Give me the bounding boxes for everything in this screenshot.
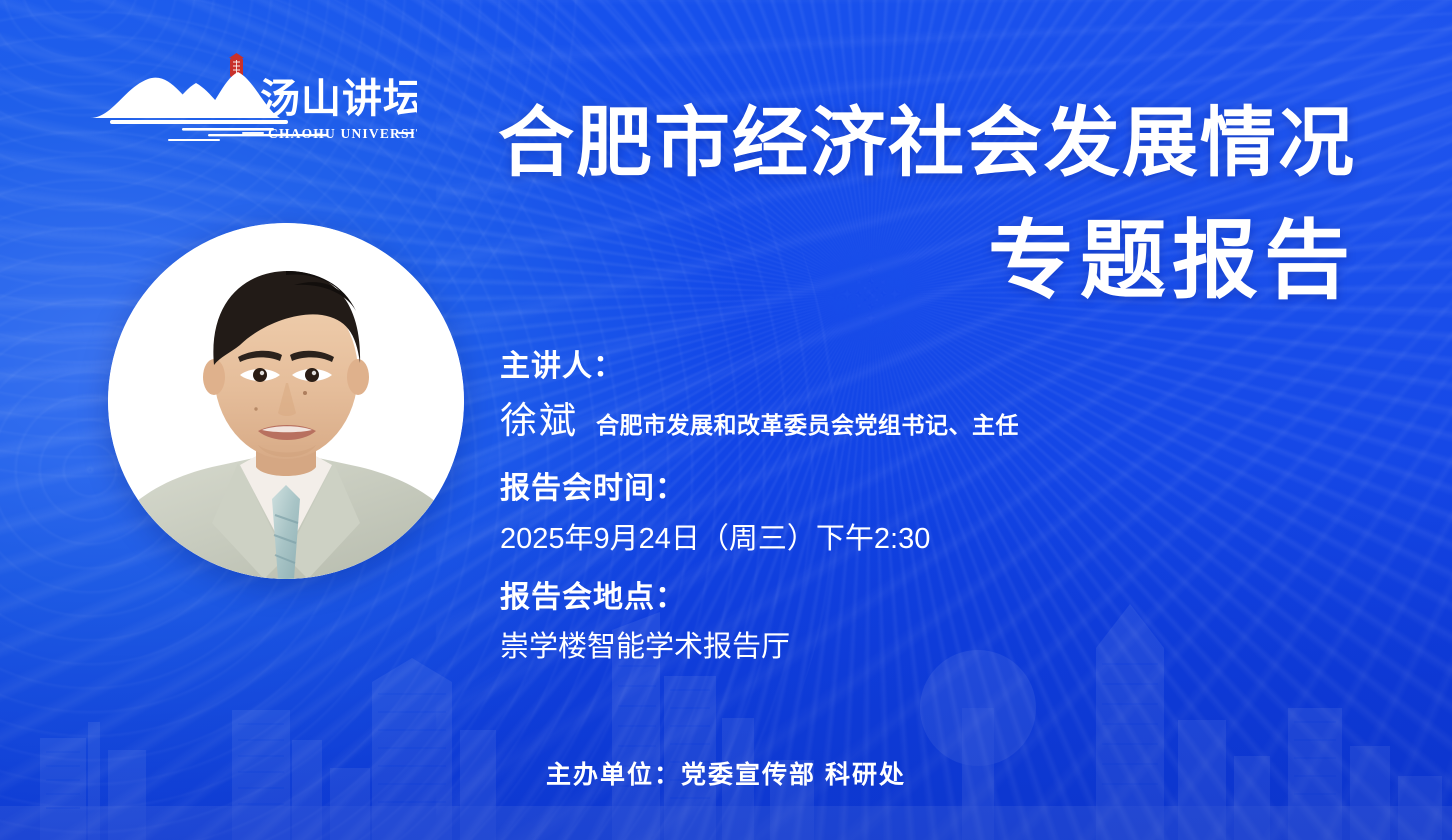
speaker-label: 主讲人： <box>500 348 1320 386</box>
logo-name-en: CHAOHU UNIVERSITY <box>268 126 417 141</box>
headline-line-1: 合肥市经济社会发展情况 <box>498 106 1356 182</box>
mountain-icon <box>90 72 280 118</box>
headline-line-2: 专题报告 <box>498 218 1356 304</box>
organizer-footer: 主办单位：党委宣传部 科研处 <box>0 755 1452 791</box>
place-label: 报告会地点： <box>500 579 1320 617</box>
speaker-row: 徐斌 合肥市发展和改革委员会党组书记、主任 <box>500 390 1320 444</box>
speaker-name: 徐斌 <box>500 390 578 444</box>
chaohu-university-logo: 汤山讲坛 CHAOHU UNIVERSITY <box>72 52 417 147</box>
time-label: 报告会时间： <box>500 470 1320 508</box>
time-value: 2025年9月24日（周三）下午2:30 <box>500 515 1320 557</box>
event-details: 主讲人： 徐斌 合肥市发展和改革委员会党组书记、主任 报告会时间： 2025年9… <box>500 348 1320 665</box>
logo-name-cn: 汤山讲坛 <box>260 76 417 122</box>
event-poster: 汤山讲坛 CHAOHU UNIVERSITY 合肥市经济社会发展情况 专题报告 <box>0 0 1452 840</box>
speaker-title: 合肥市发展和改革委员会党组书记、主任 <box>596 406 1019 440</box>
speaker-portrait <box>108 223 464 579</box>
poster-headline: 合肥市经济社会发展情况 专题报告 <box>498 106 1356 304</box>
place-value: 崇学楼智能学术报告厅 <box>500 623 1320 665</box>
